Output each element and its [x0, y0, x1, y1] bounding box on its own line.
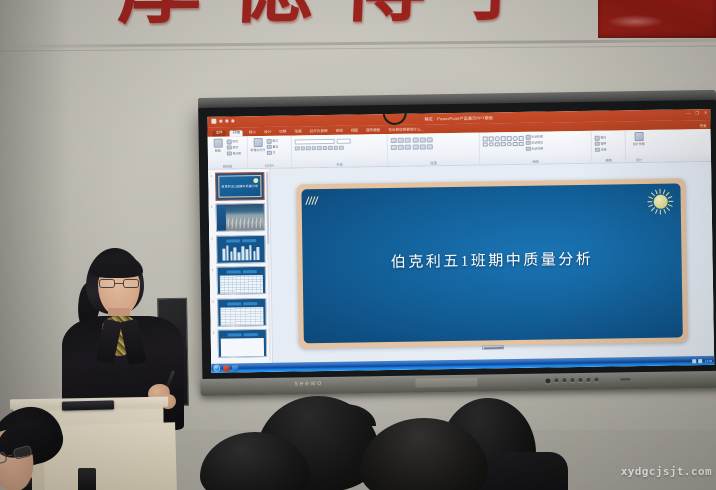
shape-fill-button[interactable]: 形状填充: [526, 140, 543, 145]
ribbon-group-paragraph: 段落: [388, 133, 480, 166]
reset-icon: [267, 145, 272, 150]
columns-icon[interactable]: [420, 144, 426, 149]
quick-access-toolbar[interactable]: [211, 118, 234, 123]
chart-header-right: [242, 239, 256, 242]
thumbnail-row[interactable]: 3: [216, 235, 266, 264]
underline-icon[interactable]: [306, 146, 311, 150]
shape-outline-icon: [526, 135, 531, 140]
table-header-right: [243, 333, 257, 336]
cut-label: 剪切: [232, 140, 238, 144]
taskbar-clock[interactable]: 14:28: [705, 358, 713, 362]
shape-rect-icon[interactable]: [483, 136, 488, 141]
table-header-left: [226, 271, 240, 274]
select-button[interactable]: 选择: [595, 147, 622, 152]
find-label: 查找: [600, 136, 606, 140]
copy-icon: [227, 145, 232, 150]
sun-core: [653, 194, 667, 208]
shape-effects-label: 形状效果: [531, 147, 543, 151]
shape-triangle-icon[interactable]: [507, 136, 512, 141]
shape-heart-icon[interactable]: [513, 141, 518, 146]
close-button[interactable]: ✕: [704, 111, 707, 115]
interactive-display: 稿定 · PowerPoint产品展示PPT模板 — ❐ ✕ 文件 开始 插入 …: [198, 90, 716, 398]
layout-label: 版式: [272, 139, 278, 143]
window-controls[interactable]: — ❐ ✕: [686, 111, 707, 115]
slide-thumbnail-5[interactable]: [217, 298, 266, 327]
select-icon: [595, 147, 600, 152]
display-label-plate: [415, 378, 477, 388]
format-painter-icon: [227, 151, 232, 156]
clear-format-icon[interactable]: [333, 145, 338, 149]
bezel-button-5[interactable]: [586, 378, 590, 382]
current-slide[interactable]: 伯克利五1班期中质量分析: [297, 178, 688, 349]
banner-calligraphy-text: 厚德博学: [116, 0, 512, 32]
desk-object-dark: [78, 468, 96, 490]
thumbnail-title-slide: 伯克利五1班期中质量分析: [218, 175, 261, 198]
section-label: 节: [273, 151, 276, 155]
paste-button[interactable]: 粘贴: [211, 139, 225, 153]
group-label-slides: 幻灯片: [248, 163, 291, 169]
bezel-button-4[interactable]: [578, 378, 582, 382]
document-title: 稿定 · PowerPoint产品展示PPT模板: [425, 115, 494, 122]
network-icon[interactable]: [693, 359, 697, 363]
thumbnail-chart-headers: [219, 239, 262, 243]
thumbnail-bars: [219, 244, 262, 261]
decorative-strokes-icon: [309, 196, 321, 206]
shape-line-icon[interactable]: [489, 136, 494, 141]
taskbar-explorer-icon[interactable]: [232, 365, 238, 371]
sun-icon: [647, 188, 673, 214]
thumbnail-row[interactable]: 6: [218, 329, 268, 358]
slide-canvas[interactable]: 伯克利五1班期中质量分析: [302, 183, 682, 344]
ppt-work-area: 1 伯克利五1班期中质量分析 2: [208, 162, 714, 366]
shape-diamond-icon[interactable]: [501, 142, 506, 147]
volume-icon[interactable]: [699, 359, 703, 363]
font-style-buttons[interactable]: [295, 144, 347, 150]
thumbnail-table-headers: [221, 333, 264, 337]
thumbnail-number: 6: [213, 331, 215, 335]
shape-cloud-icon[interactable]: [507, 142, 512, 147]
ribbon-group-font: 字体: [292, 134, 388, 168]
ribbon-group-designer: 设计灵感 设计: [626, 130, 652, 162]
italic-icon[interactable]: [300, 146, 305, 150]
group-label-clipboard: 剪贴板: [208, 163, 247, 169]
shape-effects-icon: [526, 147, 531, 152]
format-painter-label: 格式刷: [233, 151, 242, 155]
table-header-left: [227, 302, 241, 305]
slide-thumbnail-3[interactable]: [216, 235, 265, 264]
paragraph-controls-row2[interactable]: [391, 142, 476, 150]
bezel-button-2[interactable]: [562, 378, 566, 382]
shape-circle-icon[interactable]: [495, 136, 500, 141]
thumbnail-table-grid: [220, 307, 263, 327]
thumbnail-table: [219, 330, 266, 357]
find-button[interactable]: 查找: [595, 135, 622, 140]
thumbnail-row[interactable]: 5: [217, 298, 267, 327]
shape-outline-label: 形状轮廓: [531, 135, 543, 139]
thumbnail-table-headers: [220, 302, 263, 306]
select-label: 选择: [601, 148, 607, 152]
display-ir-sensor: [620, 378, 630, 380]
ribbon-group-editing: 查找 替换 选择 编辑: [592, 130, 626, 163]
justify-icon[interactable]: [412, 145, 418, 150]
scissors-icon: [227, 139, 232, 144]
bezel-button-1[interactable]: [554, 378, 558, 382]
thumbnail-row[interactable]: 4: [217, 266, 267, 295]
smartart-icon[interactable]: [427, 144, 433, 149]
shapes-gallery[interactable]: [483, 134, 524, 147]
slide-selection-handle[interactable]: [482, 346, 504, 350]
display-frame: 稿定 · PowerPoint产品展示PPT模板 — ❐ ✕ 文件 开始 插入 …: [198, 100, 716, 380]
thumbnail-table-grid: [220, 275, 263, 295]
reset-label: 重设: [272, 145, 278, 149]
bezel-button-6[interactable]: [594, 378, 598, 382]
chart-header-left: [226, 239, 240, 242]
align-left-icon[interactable]: [391, 145, 397, 150]
sun-icon: [253, 178, 258, 183]
shape-cross-icon[interactable]: [495, 142, 500, 147]
search-icon: [595, 136, 600, 141]
cut-button[interactable]: 剪切: [227, 139, 241, 144]
thumbnail-table-headers: [220, 270, 263, 274]
display-control-buttons[interactable]: [545, 378, 598, 384]
layout-button[interactable]: 版式: [267, 139, 279, 144]
start-slideshow-icon[interactable]: [231, 119, 234, 122]
account-label[interactable]: 登录: [700, 123, 707, 128]
save-icon[interactable]: [211, 119, 216, 124]
table-header-left: [227, 333, 241, 336]
slide-thumbnail-1[interactable]: 伯克利五1班期中质量分析: [215, 172, 264, 201]
thumbnail-table: [218, 299, 265, 326]
thumbnail-row[interactable]: 2: [216, 203, 266, 232]
replace-label: 替换: [600, 142, 606, 146]
new-slide-label: 新建幻灯片: [250, 148, 265, 152]
shape-pentagon-icon[interactable]: [483, 142, 488, 147]
section-button[interactable]: 节: [267, 151, 279, 156]
shape-arrow-icon[interactable]: [501, 136, 506, 141]
reset-button[interactable]: 重设: [267, 145, 279, 150]
shape-banner-icon[interactable]: [489, 142, 494, 147]
replace-icon: [595, 142, 600, 147]
shape-callout-icon[interactable]: [519, 136, 524, 141]
copy-label: 复制: [232, 146, 238, 150]
slide-thumbnail-4[interactable]: [217, 266, 266, 295]
thumbnail-table: [218, 267, 265, 294]
char-spacing-icon[interactable]: [322, 145, 327, 149]
table-header-right: [243, 302, 257, 305]
align-center-icon[interactable]: [398, 145, 404, 150]
shape-fill-label: 形状填充: [531, 141, 543, 145]
bold-icon[interactable]: [295, 146, 300, 150]
shadow-icon[interactable]: [311, 146, 316, 150]
slide-title-text[interactable]: 伯克利五1班期中质量分析: [303, 247, 681, 274]
group-label-designer: 设计: [626, 157, 652, 162]
paste-label: 粘贴: [215, 149, 221, 153]
thumbnail-title-text: 伯克利五1班期中质量分析: [221, 184, 258, 189]
copy-button[interactable]: 复制: [227, 145, 241, 150]
banner-red-panel: [598, 0, 716, 38]
thumbnail-number: 1: [210, 174, 212, 178]
section-icon: [267, 151, 272, 156]
design-ideas-label: 设计灵感: [633, 142, 645, 146]
thumbnail-scrollbar-thumb[interactable]: [266, 172, 270, 244]
power-button-icon[interactable]: [545, 378, 550, 383]
photo-scene: 厚德博学 稿定 · PowerPoint产品展: [0, 0, 716, 490]
ribbon-group-drawing: 形状轮廓 形状填充 形状效果: [480, 131, 592, 165]
new-slide-icon: [253, 138, 262, 147]
font-color-icon[interactable]: [339, 145, 344, 149]
format-painter-button[interactable]: 格式刷: [227, 151, 241, 156]
thumbnail-number: 5: [212, 299, 214, 303]
table-header-right: [242, 270, 256, 273]
group-label-editing: 编辑: [592, 157, 625, 163]
change-case-icon[interactable]: [328, 145, 333, 149]
shape-fill-icon: [526, 141, 531, 146]
display-brand-logo: seewo: [294, 380, 322, 387]
system-tray[interactable]: 14:28: [693, 358, 713, 362]
strikethrough-icon[interactable]: [317, 146, 322, 150]
slide-thumbnail-6[interactable]: [218, 329, 267, 358]
minimize-button[interactable]: —: [686, 111, 690, 115]
display-screen[interactable]: 稿定 · PowerPoint产品展示PPT模板 — ❐ ✕ 文件 开始 插入 …: [207, 109, 714, 373]
taskbar-powerpoint-icon[interactable]: [223, 365, 229, 371]
shape-star-icon[interactable]: [513, 136, 518, 141]
slide-thumbnail-panel[interactable]: 1 伯克利五1班期中质量分析 2: [208, 169, 273, 366]
thumbnail-number: 4: [212, 268, 214, 272]
bezel-button-3[interactable]: [570, 378, 574, 382]
shape-effects-button[interactable]: 形状效果: [526, 146, 543, 151]
thumbnail-table-grid: [221, 338, 264, 358]
thumbnail-classroom-photo: [217, 204, 264, 231]
ribbon-group-slides: 新建幻灯片 版式 重设: [248, 136, 292, 169]
thumbnail-row[interactable]: 1 伯克利五1班期中质量分析: [215, 172, 265, 201]
replace-button[interactable]: 替换: [595, 141, 622, 146]
slide-editing-stage[interactable]: 伯克利五1班期中质量分析: [270, 162, 714, 365]
glasses-icon: [98, 279, 140, 288]
thumbnail-number: 3: [211, 237, 213, 241]
shape-outline-button[interactable]: 形状轮廓: [526, 135, 543, 140]
front-left-person: [0, 408, 70, 490]
powerpoint-app: 稿定 · PowerPoint产品展示PPT模板 — ❐ ✕ 文件 开始 插入 …: [207, 109, 714, 373]
watermark: xydgcjsjt.com: [621, 465, 712, 478]
design-ideas-button[interactable]: 设计灵感: [632, 132, 646, 146]
ribbon-group-clipboard: 粘贴 剪切 复制: [208, 136, 248, 169]
thumbnail-number: 2: [211, 205, 213, 209]
paste-icon: [213, 139, 222, 148]
undo-icon[interactable]: [219, 120, 222, 123]
restore-button[interactable]: ❐: [695, 111, 699, 115]
new-slide-button[interactable]: 新建幻灯片: [251, 138, 265, 152]
thumbnail-chart: [217, 236, 264, 263]
lightbulb-icon: [634, 132, 643, 141]
start-button-icon[interactable]: [213, 365, 220, 372]
shape-hex-icon[interactable]: [519, 141, 524, 146]
redo-icon[interactable]: [225, 120, 228, 123]
layout-icon: [267, 139, 272, 144]
slide-thumbnail-2[interactable]: [216, 203, 265, 232]
align-right-icon[interactable]: [405, 145, 411, 150]
